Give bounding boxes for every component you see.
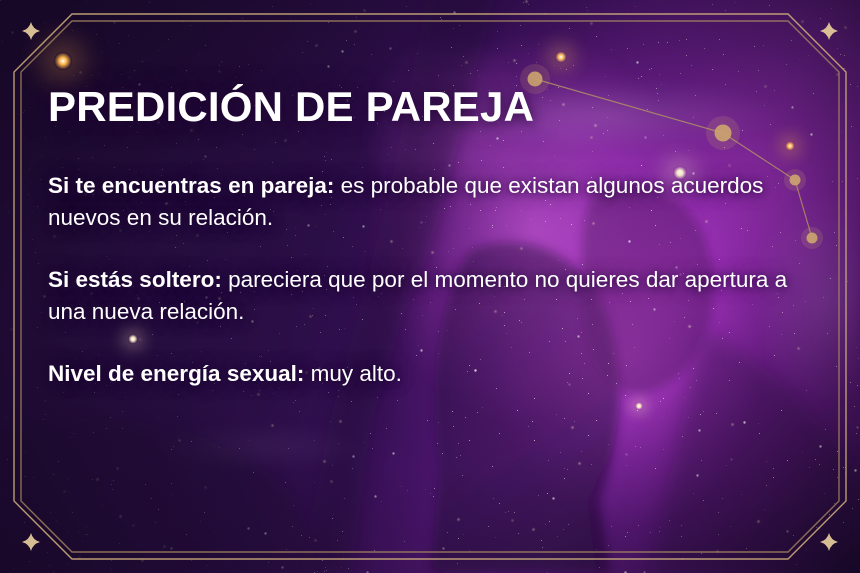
flare-mid — [635, 402, 643, 410]
flare-constellation — [555, 51, 567, 63]
flare-top-left — [54, 52, 72, 70]
paragraph-en-pareja: Si te encuentras en pareja: es probable … — [48, 170, 830, 234]
star-dots — [0, 0, 1, 1]
card-content: PREDICIÓN DE PAREJA Si te encuentras en … — [48, 86, 830, 390]
astrology-prediction-card: PREDICIÓN DE PAREJA Si te encuentras en … — [0, 0, 860, 573]
paragraph-lead-soltero: Si estás soltero: — [48, 267, 222, 292]
page-title: PREDICIÓN DE PAREJA — [48, 86, 830, 128]
sparkle-bottom-right — [820, 533, 838, 551]
warm-star-dots — [0, 0, 1, 1]
paragraph-lead-energia-sexual: Nivel de energía sexual: — [48, 361, 304, 386]
paragraph-lead-en-pareja: Si te encuentras en pareja: — [48, 173, 334, 198]
sparkle-bottom-left — [22, 533, 40, 551]
sparkle-top-right — [820, 22, 838, 40]
sparkle-top-left — [22, 22, 40, 40]
paragraph-body-energia-sexual: muy alto. — [304, 361, 402, 386]
paragraph-soltero: Si estás soltero: pareciera que por el m… — [48, 264, 830, 328]
paragraph-energia-sexual: Nivel de energía sexual: muy alto. — [48, 358, 830, 390]
